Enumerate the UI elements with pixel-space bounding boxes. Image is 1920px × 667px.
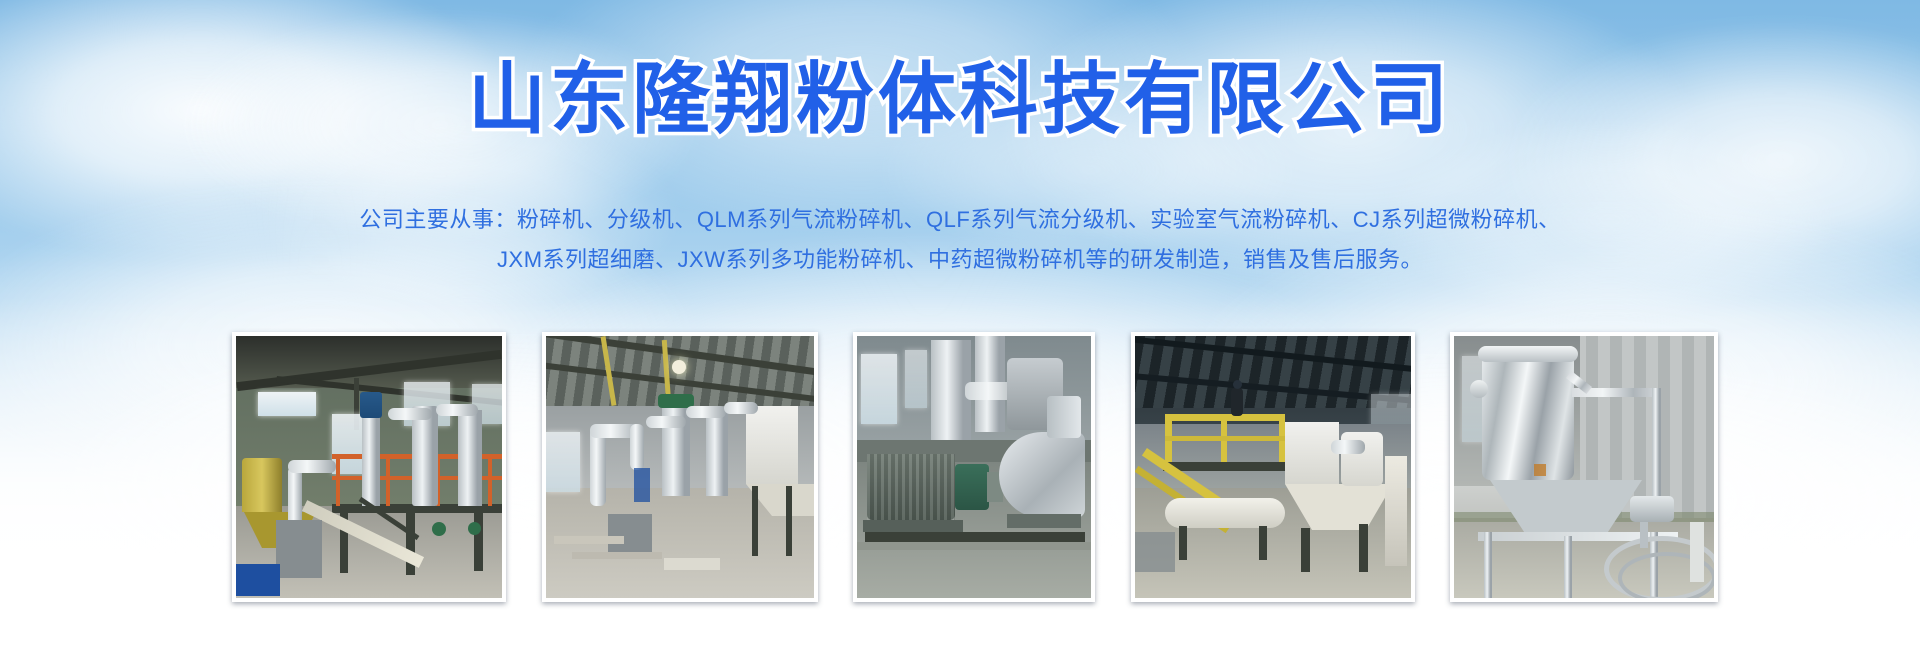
gallery-photo-2[interactable] xyxy=(542,332,818,602)
photo-3-scene xyxy=(857,336,1091,598)
company-hero-banner: 山东隆翔粉体科技有限公司 公司主要从事：粉碎机、分级机、QLM系列气流粉碎机、Q… xyxy=(0,0,1920,667)
photo-2-scene xyxy=(546,336,814,598)
gallery-photo-1[interactable] xyxy=(232,332,506,602)
photo-gallery xyxy=(232,332,1718,602)
photo-5-scene xyxy=(1454,336,1714,598)
gallery-photo-4[interactable] xyxy=(1131,332,1415,602)
description-line-1: 公司主要从事：粉碎机、分级机、QLM系列气流粉碎机、QLF系列气流分级机、实验室… xyxy=(0,200,1920,240)
description-line-2: JXM系列超细磨、JXW系列多功能粉碎机、中药超微粉碎机等的研发制造，销售及售后… xyxy=(0,240,1920,280)
gallery-photo-5[interactable] xyxy=(1450,332,1718,602)
company-description: 公司主要从事：粉碎机、分级机、QLM系列气流粉碎机、QLF系列气流分级机、实验室… xyxy=(0,200,1920,280)
photo-1-scene xyxy=(236,336,502,598)
photo-4-scene xyxy=(1135,336,1411,598)
gallery-photo-3[interactable] xyxy=(853,332,1095,602)
company-title: 山东隆翔粉体科技有限公司 xyxy=(0,56,1920,142)
